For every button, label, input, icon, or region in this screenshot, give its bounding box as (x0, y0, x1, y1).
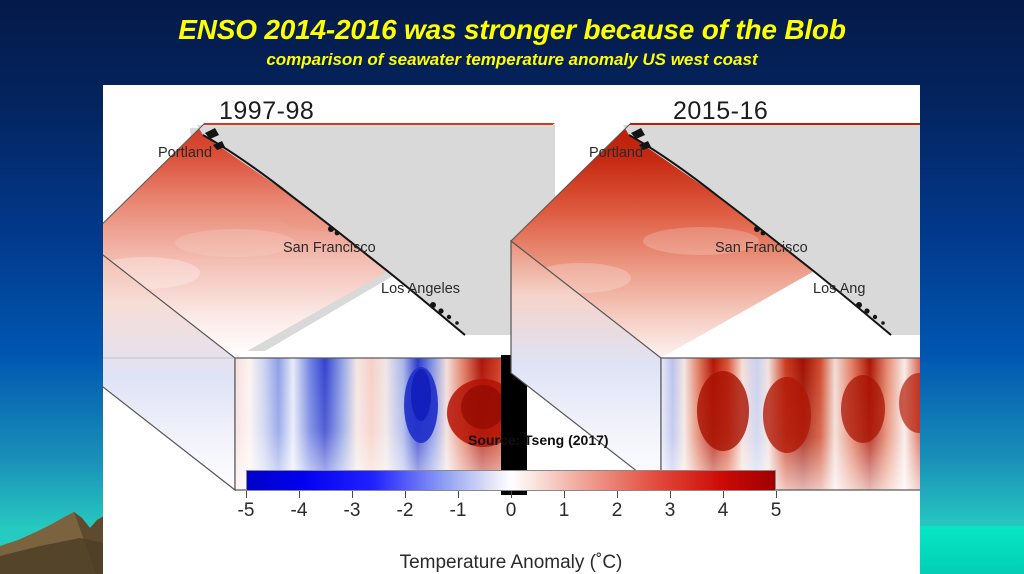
colorbar-tick-label: 2 (612, 500, 623, 522)
city-label-los-angeles-left: Los Angeles (381, 281, 460, 297)
city-label-san-francisco-left: San Francisco (283, 240, 376, 256)
city-label-los-angeles-right: Los Ang (813, 281, 865, 297)
colorbar-tick (723, 491, 724, 498)
colorbar-tick (458, 491, 459, 498)
colorbar-ticks (246, 491, 776, 498)
page-subtitle: comparison of seawater temperature anoma… (0, 50, 1024, 70)
colorbar-tick (670, 491, 671, 498)
colorbar-tick-label: 0 (506, 500, 517, 522)
city-label-portland-left: Portland (158, 145, 212, 161)
slide-canvas: ENSO 2014-2016 was stronger because of t… (0, 0, 1024, 574)
city-label-portland-right: Portland (589, 145, 643, 161)
colorbar-tick (246, 491, 247, 498)
colorbar-tick (405, 491, 406, 498)
colorbar-tick (511, 491, 512, 498)
colorbar-tick-label: 1 (559, 500, 570, 522)
colorbar-tick-label: -5 (238, 500, 255, 522)
colorbar-legend: -5-4-3-2-1012345 Temperature Anomaly (˚C… (246, 470, 776, 574)
source-note: Source: Tseng (2017) (468, 432, 609, 448)
figure-panel: 1997-98 2015-16 (103, 85, 920, 574)
page-title: ENSO 2014-2016 was stronger because of t… (0, 14, 1024, 46)
colorbar-axis-title: Temperature Anomaly (˚C) (246, 552, 776, 574)
colorbar-tick-label: -2 (397, 500, 414, 522)
colorbar-tick-label: 5 (771, 500, 782, 522)
colorbar-tick-labels: -5-4-3-2-1012345 (246, 500, 776, 524)
colorbar-tick-label: -3 (344, 500, 361, 522)
colorbar-tick-label: 4 (718, 500, 729, 522)
teal-accent-block (920, 526, 1024, 574)
city-label-san-francisco-right: San Francisco (715, 240, 808, 256)
colorbar-tick-label: -1 (450, 500, 467, 522)
colorbar-gradient (246, 470, 776, 491)
colorbar-tick (776, 491, 777, 498)
colorbar-tick-label: -4 (291, 500, 308, 522)
colorbar-tick (617, 491, 618, 498)
colorbar-tick (299, 491, 300, 498)
colorbar-tick (352, 491, 353, 498)
colorbar-tick-label: 3 (665, 500, 676, 522)
colorbar-tick (564, 491, 565, 498)
